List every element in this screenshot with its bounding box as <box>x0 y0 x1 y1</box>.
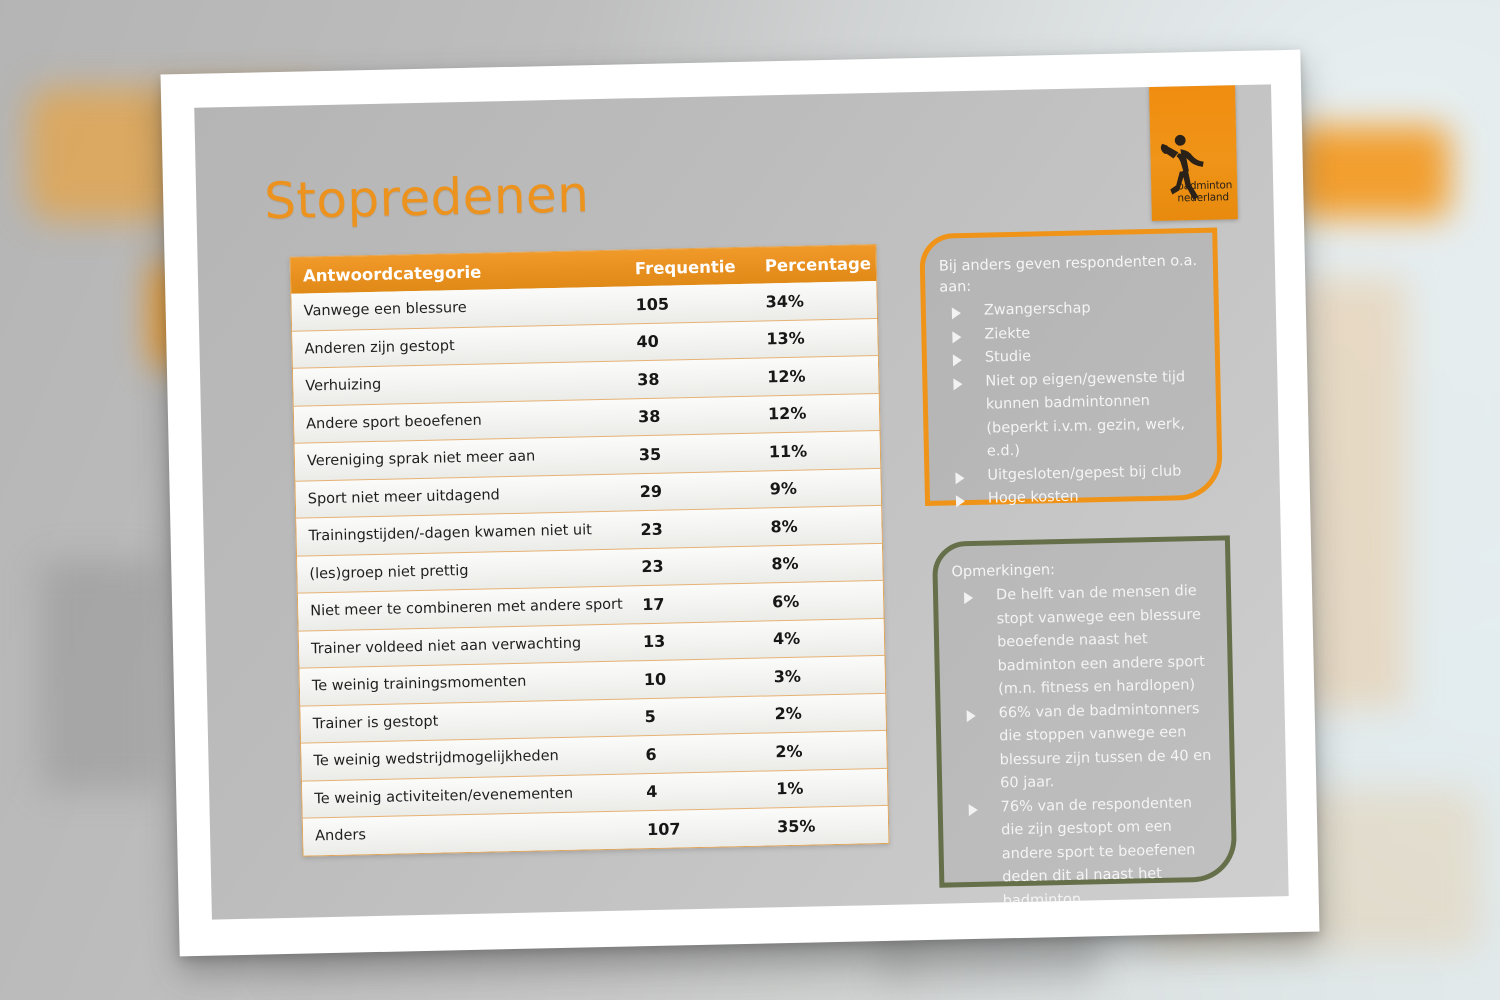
cell-percentage: 2% <box>759 740 886 762</box>
cell-category: Vanwege een blessure <box>292 297 622 320</box>
triangle-bullet-icon <box>952 331 961 343</box>
cell-percentage: 13% <box>750 327 877 349</box>
slide-white-frame: badminton nederland Stopredenen Antwoord… <box>161 50 1320 957</box>
triangle-bullet-icon <box>956 495 965 507</box>
callout-orange-item-text: Uitgesloten/gepest bij club <box>987 463 1181 483</box>
cell-percentage: 6% <box>756 590 883 612</box>
cell-category: Trainer is gestopt <box>301 709 631 732</box>
callout-orange-list: ZwangerschapZiekteStudieNiet op eigen/ge… <box>940 295 1205 512</box>
cell-category: Andere sport beoefenen <box>294 409 624 432</box>
callout-green-item-text: De helft van de mensen die stopt vanwege… <box>996 583 1205 697</box>
cell-percentage: 3% <box>758 665 885 687</box>
callout-orange-item-text: Niet op eigen/gewenste tijd kunnen badmi… <box>985 369 1185 460</box>
cell-frequency: 10 <box>630 667 758 689</box>
callout-orange-item-text: Hoge kosten <box>988 489 1079 507</box>
triangle-bullet-icon <box>964 592 973 604</box>
badminton-nederland-logo: badminton nederland <box>1149 85 1238 221</box>
callout-orange-lead: Bij anders geven respondenten o.a. aan: <box>939 251 1200 299</box>
callout-orange-item: Hoge kosten <box>944 483 1204 512</box>
cell-percentage: 12% <box>751 365 878 387</box>
cell-percentage: 1% <box>760 777 887 799</box>
cell-frequency: 13 <box>629 630 757 652</box>
triangle-bullet-icon <box>952 307 961 319</box>
cell-percentage: 11% <box>753 440 880 462</box>
cell-frequency: 38 <box>623 367 751 389</box>
cell-category: Te weinig activiteiten/evenementen <box>302 784 632 807</box>
cell-percentage: 4% <box>757 627 884 649</box>
screenshot-root: badminton nederland Stopredenen Antwoord… <box>0 0 1500 1000</box>
callout-green-item: De helft van de mensen die stopt vanwege… <box>952 580 1215 703</box>
column-header-percentage: Percentage <box>749 253 876 275</box>
cell-category: Trainer voldeed niet aan verwachting <box>299 634 629 657</box>
cell-frequency: 29 <box>626 480 754 502</box>
cell-category: Anders <box>303 822 633 845</box>
triangle-bullet-icon <box>953 354 962 366</box>
callout-green-item: 76% van de respondenten die zijn gestopt… <box>956 791 1219 914</box>
triangle-bullet-icon <box>955 472 964 484</box>
cell-frequency: 35 <box>625 442 753 464</box>
cell-frequency: 5 <box>630 705 758 727</box>
cell-category: Sport niet meer uitdagend <box>296 484 626 507</box>
cell-category: Trainingstijden/-dagen kwamen niet uit <box>296 522 626 545</box>
cell-category: Vereniging sprak niet meer aan <box>295 447 625 470</box>
cell-category: Anderen zijn gestopt <box>292 334 622 357</box>
cell-percentage: 9% <box>754 477 881 499</box>
slide-canvas: badminton nederland Stopredenen Antwoord… <box>194 84 1288 919</box>
cell-frequency: 105 <box>621 292 749 314</box>
stopredenen-table: Antwoordcategorie Frequentie Percentage … <box>290 244 890 856</box>
table-body: Vanwege een blessure10534%Anderen zijn g… <box>291 281 888 855</box>
cell-frequency: 38 <box>624 405 752 427</box>
cell-category: Te weinig wedstrijdmogelijkheden <box>301 747 631 770</box>
cell-percentage: 8% <box>755 552 882 574</box>
callout-orange-item-text: Studie <box>985 349 1032 366</box>
callout-orange-item-text: Zwangerschap <box>984 300 1091 318</box>
cell-category: (les)groep niet prettig <box>297 559 627 582</box>
callout-green-lead: Opmerkingen: <box>951 557 1211 584</box>
cell-percentage: 35% <box>761 815 888 837</box>
cell-frequency: 4 <box>632 780 760 802</box>
triangle-bullet-icon <box>969 803 978 815</box>
callout-green-item: 66% van de badmintonners die stoppen van… <box>954 697 1216 797</box>
cell-frequency: 40 <box>622 330 750 352</box>
callout-green-item-text: 76% van de respondenten die zijn gestopt… <box>1001 795 1196 909</box>
background-blob <box>40 560 160 790</box>
callout-remarks: Opmerkingen: De helft van de mensen die … <box>932 535 1237 887</box>
callout-green-list: De helft van de mensen die stopt vanwege… <box>952 580 1219 915</box>
column-header-category: Antwoordcategorie <box>291 259 621 285</box>
cell-category: Te weinig trainingsmomenten <box>300 672 630 695</box>
background-blob <box>1290 126 1450 218</box>
cell-frequency: 23 <box>626 517 754 539</box>
callout-other-reasons: Bij anders geven respondenten o.a. aan: … <box>919 228 1223 506</box>
cell-category: Niet meer te combineren met andere sport <box>298 597 628 620</box>
logo-line-2: nederland <box>1177 192 1232 205</box>
callout-green-item-text: 66% van de badmintonners die stoppen van… <box>998 701 1211 792</box>
cell-percentage: 34% <box>749 290 876 312</box>
cell-category: Verhuizing <box>293 372 623 395</box>
triangle-bullet-icon <box>953 378 962 390</box>
column-header-frequency: Frequentie <box>621 256 749 278</box>
callout-orange-item: Niet op eigen/gewenste tijd kunnen badmi… <box>941 365 1203 465</box>
cell-percentage: 12% <box>752 402 879 424</box>
cell-frequency: 6 <box>631 742 759 764</box>
cell-frequency: 107 <box>633 817 761 839</box>
cell-percentage: 8% <box>754 515 881 537</box>
logo-wordmark: badminton nederland <box>1177 180 1232 204</box>
cell-frequency: 17 <box>628 592 756 614</box>
callout-orange-item-text: Ziekte <box>984 325 1030 342</box>
triangle-bullet-icon <box>967 709 976 721</box>
page-title: Stopredenen <box>264 165 590 230</box>
cell-frequency: 23 <box>627 555 755 577</box>
cell-percentage: 2% <box>758 702 885 724</box>
